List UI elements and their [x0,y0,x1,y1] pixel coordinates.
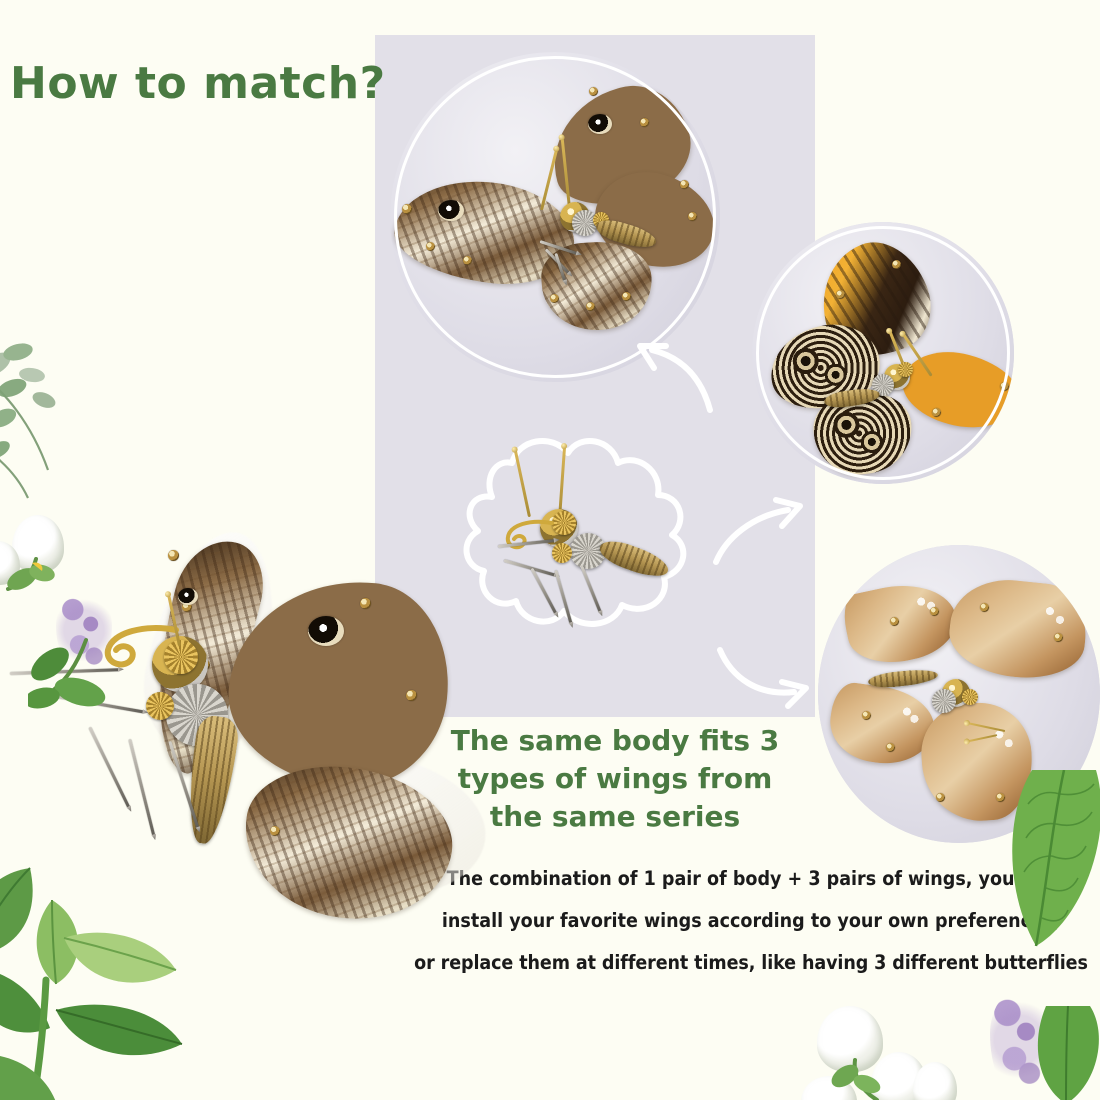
wing-rivet [936,793,945,802]
green-leaf-right-lower-decoration [1036,1000,1100,1100]
wing-rivet [886,743,895,752]
wing-rivet [862,711,871,720]
abdomen [596,535,672,582]
gear-brass-head [164,640,198,674]
subheading-line-1: The same body fits 3 [420,722,810,760]
arrow-to-top-left-variant [632,336,722,416]
eyespot-upper-right [588,114,612,134]
wing-rivet [589,87,598,96]
body-line-2: install your favorite wings according to… [402,900,1100,942]
wing-upper-left-leaf [839,574,962,671]
page-title: How to match? [10,58,370,109]
gear-flower [932,689,956,713]
wing-rivet [640,118,649,127]
wing-rivet [930,607,939,616]
body-paragraph: The combination of 1 pair of body + 3 pa… [402,858,1100,984]
eyespot-left [438,200,464,221]
wing-rivet [836,290,845,299]
butterfly-orange-black [752,222,1014,484]
wing-rivet [463,256,472,265]
wing-rivet [680,180,689,189]
butterfly-body-only [470,433,700,633]
butterfly-brown-speckled [390,52,720,382]
body-line-3: or replace them at different times, like… [402,942,1100,984]
wing-upper-right-leaf [945,574,1090,684]
photo-circle-orange-wings [752,222,1014,484]
arrow-to-top-right-variant [708,490,808,570]
wing-rivet [1000,382,1009,391]
wing-rivet [892,260,901,269]
wing-rivet [980,603,989,612]
photo-circle-brown-wings [390,52,720,382]
abdomen [867,667,938,689]
wing-rivet [168,550,179,561]
lilac-leaves-icon [28,636,148,720]
jasmine-calyx-icon [827,1056,917,1100]
leg [129,739,156,837]
wing-rivet [406,690,417,701]
wing-rivet [996,793,1005,802]
poster-canvas: How to match? The same body fits 3 types… [0,0,1100,1100]
wing-rivet [270,826,280,836]
antenna-left [540,150,557,211]
gear-brass [962,689,978,705]
gear-brass [898,362,913,377]
wing-rivet [688,212,697,221]
wing-rivet [890,617,899,626]
wing-rivet [586,302,595,311]
green-leaves-bottom-left-decoration [0,860,260,1100]
wing-rivet [402,204,412,214]
wing-rivet [426,242,435,251]
lilac-sprig-left-decoration [28,590,148,720]
gear-brass [146,692,174,720]
wing-right [896,343,1014,438]
arrow-to-bottom-right-variant [712,630,812,710]
wing-rivet [1054,633,1063,642]
eyespot-upper-left [178,588,198,605]
subheading-line-2: types of wings from [420,760,810,798]
wing-rivet [622,292,631,301]
eyespot-main [308,616,344,646]
wing-rivet [550,294,559,303]
leg [504,559,557,576]
antenna-left [514,450,531,517]
leg [581,566,602,613]
leg [89,727,131,809]
cloud-callout [440,405,730,660]
green-leaf-right-decoration [1010,770,1100,1020]
body-line-1: The combination of 1 pair of body + 3 pa… [402,858,1100,900]
wing-rivet [932,408,941,417]
wing-rivet [360,598,371,609]
